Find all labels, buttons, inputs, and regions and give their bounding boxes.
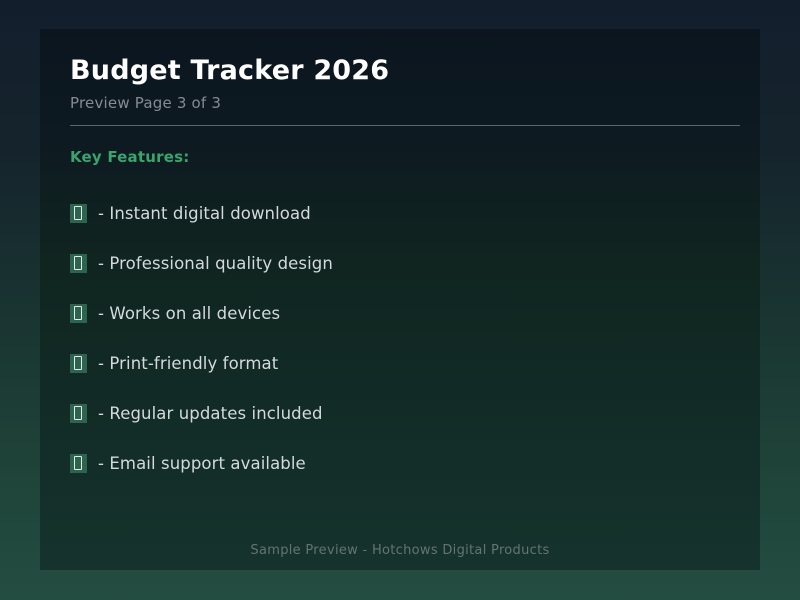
list-item-label: - Professional quality design — [98, 254, 333, 273]
tofu-missing-glyph-icon — [70, 304, 87, 323]
tofu-missing-glyph-icon — [70, 404, 87, 423]
list-item: - Works on all devices — [70, 289, 730, 339]
tofu-missing-glyph-icon — [70, 204, 87, 223]
list-item-label: - Print-friendly format — [98, 354, 278, 373]
card-header: Budget Tracker 2026 Preview Page 3 of 3 — [70, 29, 730, 126]
list-item-label: - Instant digital download — [98, 204, 311, 223]
list-item: - Print-friendly format — [70, 339, 730, 389]
tofu-missing-glyph-icon — [70, 454, 87, 473]
tofu-missing-glyph-icon — [70, 254, 87, 273]
list-item-label: - Email support available — [98, 454, 306, 473]
list-item-label: - Works on all devices — [98, 304, 280, 323]
list-item-label: - Regular updates included — [98, 404, 323, 423]
key-features-heading: Key Features: — [70, 126, 730, 166]
page-subtitle: Preview Page 3 of 3 — [70, 86, 730, 112]
tofu-missing-glyph-icon — [70, 354, 87, 373]
list-item: - Regular updates included — [70, 389, 730, 439]
footer-text: Sample Preview - Hotchows Digital Produc… — [70, 543, 730, 558]
document-card: Budget Tracker 2026 Preview Page 3 of 3 … — [40, 29, 760, 570]
preview-page: Budget Tracker 2026 Preview Page 3 of 3 … — [0, 0, 800, 600]
list-item: - Instant digital download — [70, 189, 730, 239]
list-item: - Professional quality design — [70, 239, 730, 289]
page-title: Budget Tracker 2026 — [70, 56, 730, 86]
list-item: - Email support available — [70, 439, 730, 489]
feature-list: - Instant digital download - Professiona… — [70, 166, 730, 489]
